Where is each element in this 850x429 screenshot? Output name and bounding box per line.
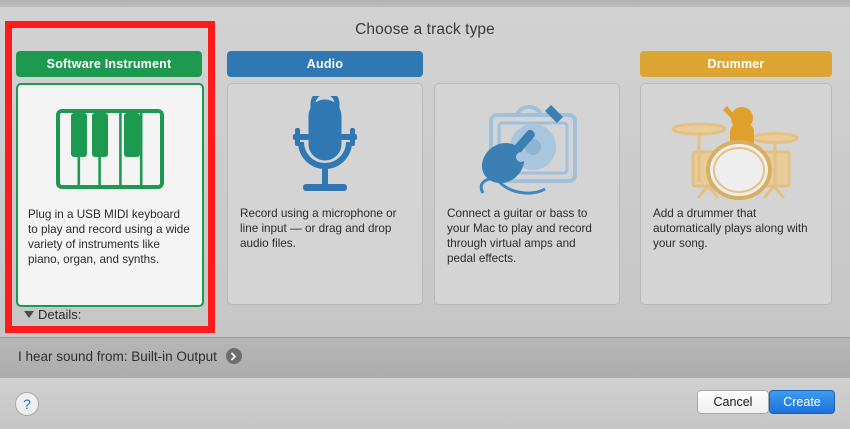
track-description: Connect a guitar or bass to your Mac to … [435, 206, 619, 266]
card-drummer[interactable]: Add a drummer that automatically plays a… [640, 83, 832, 305]
card-audio[interactable]: Record using a microphone or line input … [227, 83, 423, 305]
track-description: Record using a microphone or line input … [228, 206, 422, 251]
details-label: Details: [38, 307, 81, 322]
create-button[interactable]: Create [769, 390, 835, 414]
dialog-body: Choose a track type Software Instrument [0, 7, 850, 337]
help-button[interactable]: ? [15, 392, 39, 416]
tab-drummer[interactable]: Drummer [640, 51, 832, 77]
tab-software-instrument[interactable]: Software Instrument [16, 51, 202, 77]
window-chrome-strip [0, 0, 850, 7]
guitar-amp-icon [435, 84, 619, 206]
track-description: Plug in a USB MIDI keyboard to play and … [18, 207, 202, 267]
tab-guitar-bass [434, 51, 624, 77]
track-option-drummer[interactable]: Drummer [640, 51, 832, 305]
track-option-software-instrument[interactable]: Software Instrument Plug in a USB [16, 51, 206, 307]
card-software-instrument[interactable]: Plug in a USB MIDI keyboard to play and … [16, 83, 204, 307]
piano-keyboard-icon [18, 85, 202, 207]
microphone-icon [228, 84, 422, 206]
output-label: I hear sound from: Built-in Output [18, 349, 217, 364]
track-description: Add a drummer that automatically plays a… [641, 206, 831, 251]
output-row: I hear sound from: Built-in Output [18, 348, 242, 364]
tab-label: Software Instrument [47, 57, 172, 71]
drummer-icon [641, 84, 831, 206]
track-option-audio[interactable]: Audio [227, 51, 423, 305]
triangle-down-icon [24, 311, 34, 318]
cancel-button[interactable]: Cancel [697, 390, 769, 414]
details-disclosure[interactable]: Details: [24, 307, 81, 322]
chevron-right-circle-icon[interactable] [226, 348, 242, 364]
tab-label: Audio [307, 57, 343, 71]
tab-audio[interactable]: Audio [227, 51, 423, 77]
track-option-guitar-bass[interactable]: Connect a guitar or bass to your Mac to … [434, 51, 624, 305]
page-title: Choose a track type [0, 21, 850, 39]
tab-label: Drummer [708, 57, 765, 71]
dialog-footer: ? Cancel Create [0, 377, 850, 429]
output-bar: I hear sound from: Built-in Output [0, 337, 850, 378]
choose-track-type-dialog: Choose a track type Software Instrument [0, 0, 850, 428]
card-guitar-bass[interactable]: Connect a guitar or bass to your Mac to … [434, 83, 620, 305]
